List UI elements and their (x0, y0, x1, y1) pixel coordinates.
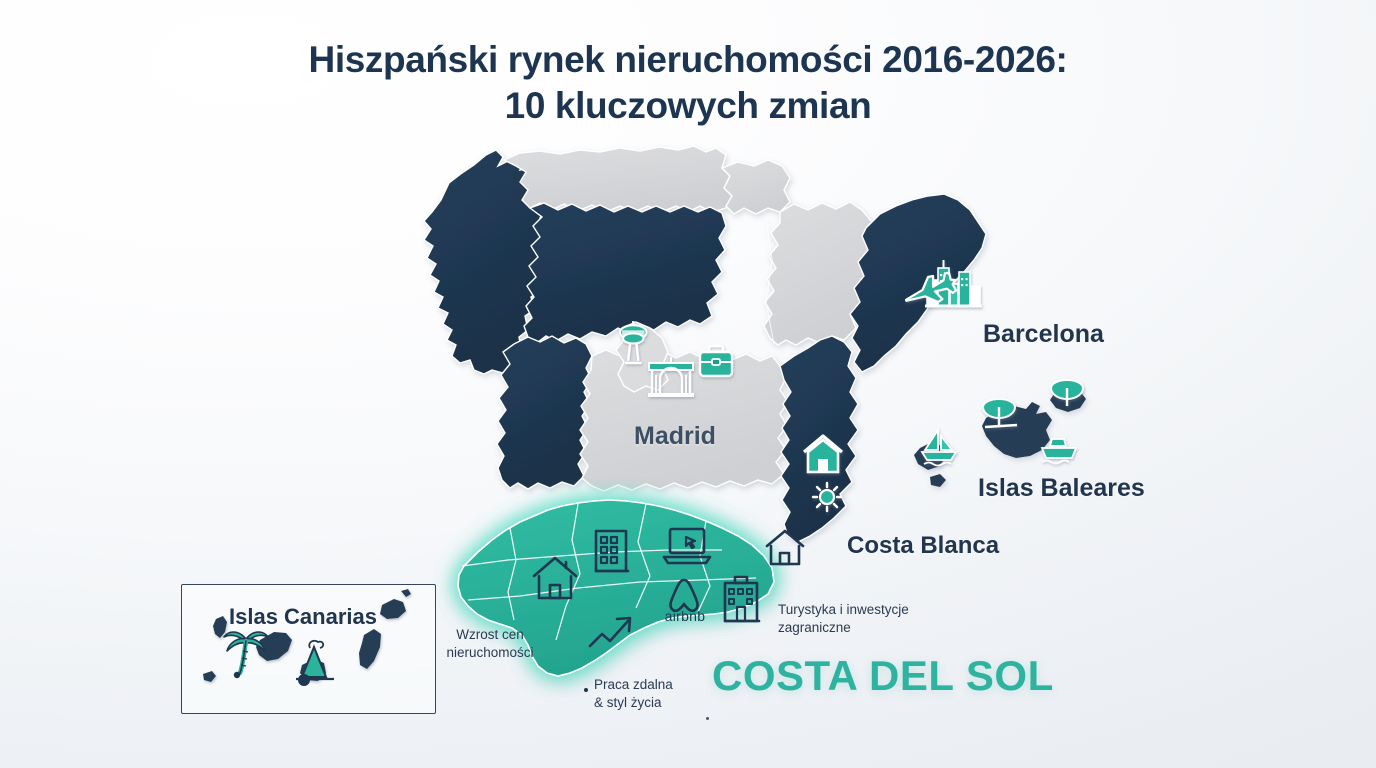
region-navarra-rioja (722, 160, 790, 214)
label-madrid: Madrid (634, 422, 716, 451)
airbnb-wordmark: airbnb (665, 608, 706, 624)
region-castilla-la-mancha (580, 350, 788, 491)
label-barcelona: Barcelona (983, 320, 1104, 349)
region-northern-coast (504, 146, 732, 212)
label-islas-canarias: Islas Canarias (229, 604, 377, 630)
region-castilla-leon (524, 203, 726, 342)
annotation-remote-work: Praca zdalna & styl życia (594, 676, 702, 712)
island-lanzarote (380, 599, 406, 619)
volcano-icon (296, 641, 334, 686)
annotation-price-growth: Wzrost cen nieruchomości (434, 626, 546, 662)
annotation-tourism: Turystyka i inwestycje zagraniczne (778, 601, 938, 637)
label-costa-blanca: Costa Blanca (847, 532, 999, 560)
label-costa-del-sol: COSTA DEL SOL (712, 652, 1054, 700)
island-fuerteventura (359, 629, 381, 669)
briefcase-icon (700, 346, 732, 376)
island-graciosa (401, 589, 411, 597)
sun-icon (813, 483, 841, 511)
label-islas-baleares: Islas Baleares (978, 474, 1145, 503)
region-extremadura (497, 336, 592, 489)
mainland-regions (424, 146, 986, 676)
island-formentera (930, 474, 946, 487)
infographic-canvas: Hiszpański rynek nieruchomości 2016-2026… (0, 0, 1376, 768)
annotation-dot-marker (584, 688, 588, 692)
annotation-dot-marker (706, 717, 709, 720)
island-el-hierro (203, 671, 216, 682)
canarias-inset-box: Islas Canarias (181, 584, 436, 714)
